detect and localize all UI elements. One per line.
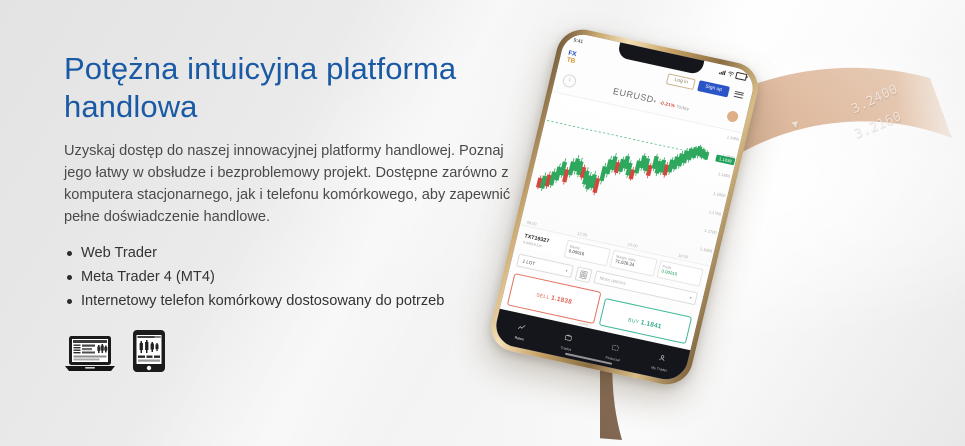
arc-number: 3.2160 [852, 109, 904, 142]
nav-item-my-trader[interactable]: My Trader [636, 344, 686, 376]
tablet-trading-icon [132, 329, 166, 373]
app-logo: FX TB [566, 51, 577, 65]
signup-button[interactable]: Sign up [697, 80, 730, 97]
bullet-dot [67, 299, 72, 304]
time-tick: 18:00 [678, 253, 689, 260]
feature-item: Internetowy telefon komórkowy dostosowan… [64, 290, 534, 314]
chevron-down-icon: ▾ [689, 295, 692, 300]
time-tick: 09:00 [526, 220, 537, 227]
price-tick: 1.1800 [713, 190, 726, 197]
feature-label: Internetowy telefon komórkowy dostosowan… [81, 293, 444, 309]
symbol-name[interactable]: EURUSD▾ [612, 86, 661, 106]
price-tick: 1.1850 [717, 172, 730, 179]
bullet-dot [67, 275, 72, 280]
feature-label: Meta Trader 4 (MT4) [81, 269, 215, 285]
nav-item-rates[interactable]: Rates [496, 313, 546, 345]
symbol-change: -0.21% Today [659, 100, 690, 111]
hero-section: 3.24003.2160-.61%▼2.11%1.00-5. Potężna i… [0, 0, 965, 446]
chevron-down-icon: ▾ [565, 268, 568, 273]
battery-icon [735, 72, 747, 81]
sell-label: SELL 1.1838 [536, 292, 573, 306]
app-logo-line2: TB [566, 57, 576, 65]
calculator-icon[interactable] [575, 266, 593, 283]
hero-content: Potężna intuicyjna platforma handlowa Uz… [64, 50, 534, 373]
buy-label: BUY 1.1841 [627, 317, 662, 330]
nav-item-trades[interactable]: Trades [543, 323, 593, 355]
hero-paragraph: Uzyskaj dostęp do naszej innowacyjnej pl… [64, 140, 514, 229]
price-tick: 1.1700 [704, 228, 717, 235]
arc-number: 3.2400 [849, 82, 900, 117]
login-button[interactable]: Log in [666, 73, 696, 90]
arc-number: ▼ [791, 117, 801, 131]
user-avatar-icon[interactable] [726, 109, 739, 122]
price-tick: 1.1750 [708, 209, 721, 216]
feature-item: Meta Trader 4 (MT4) [64, 266, 534, 290]
feature-list: Web TraderMeta Trader 4 (MT4)Internetowy… [64, 242, 534, 313]
device-icon-group [64, 329, 534, 373]
page-title: Potężna intuicyjna platforma handlowa [64, 50, 534, 126]
chevron-down-icon: ▾ [653, 99, 657, 106]
feature-label: Web Trader [81, 245, 157, 261]
feature-item: Web Trader [64, 242, 534, 266]
wifi-icon [727, 71, 734, 77]
laptop-trading-icon [64, 335, 116, 373]
bullet-dot [67, 251, 72, 256]
price-tick: 1.1650 [699, 246, 712, 253]
time-tick: 15:00 [627, 242, 638, 249]
time-tick: 12:00 [577, 231, 588, 238]
status-time: 9:41 [573, 37, 584, 45]
hamburger-menu-icon[interactable] [734, 91, 744, 99]
signal-icon [719, 69, 727, 75]
